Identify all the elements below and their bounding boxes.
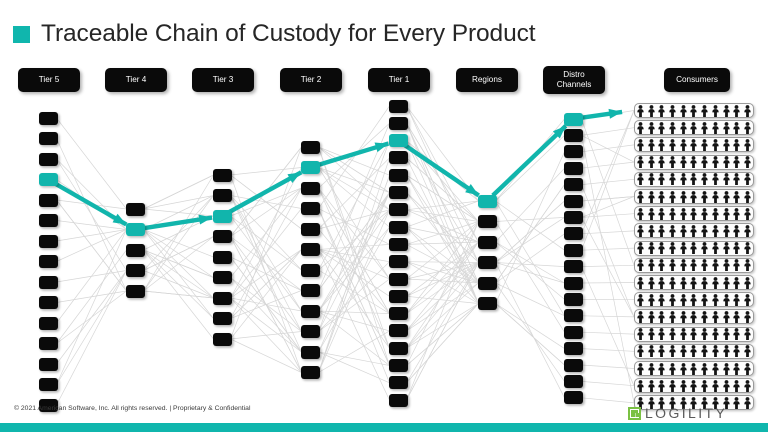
consumer-row-16[interactable] — [634, 378, 754, 393]
node-tier-3-0[interactable] — [213, 169, 232, 182]
node-tier-1-12[interactable] — [389, 307, 408, 320]
person-icon — [743, 397, 752, 409]
person-icon — [636, 242, 645, 254]
person-icon — [711, 105, 720, 117]
node-tier-2-11[interactable] — [301, 366, 320, 379]
person-icon — [711, 259, 720, 271]
person-icon — [657, 277, 666, 289]
node-tier-4-4[interactable] — [126, 285, 145, 298]
person-icon — [668, 173, 677, 185]
person-icon — [711, 242, 720, 254]
node-tier-3-4[interactable] — [213, 251, 232, 264]
consumer-row-7[interactable] — [634, 223, 754, 238]
person-icon — [689, 191, 698, 203]
person-icon — [679, 259, 688, 271]
person-icon — [636, 156, 645, 168]
person-icon — [743, 139, 752, 151]
node-regions-0[interactable] — [478, 195, 497, 208]
person-icon — [722, 191, 731, 203]
node-tier-5-7[interactable] — [39, 255, 58, 268]
node-tier-5-3[interactable] — [39, 173, 58, 186]
column-header-3: Tier 2 — [280, 68, 342, 92]
node-tier-4-2[interactable] — [126, 244, 145, 257]
person-icon — [668, 363, 677, 375]
person-icon — [636, 208, 645, 220]
person-icon — [700, 259, 709, 271]
node-tier-1-10[interactable] — [389, 273, 408, 286]
person-icon — [668, 345, 677, 357]
person-icon — [722, 122, 731, 134]
person-icon — [657, 311, 666, 323]
node-tier-4-0[interactable] — [126, 203, 145, 216]
person-icon — [700, 156, 709, 168]
node-tier-5-11[interactable] — [39, 337, 58, 350]
person-icon — [636, 173, 645, 185]
node-tier-1-14[interactable] — [389, 342, 408, 355]
person-icon — [689, 105, 698, 117]
consumer-row-14[interactable] — [634, 344, 754, 359]
person-icon — [647, 259, 656, 271]
person-icon — [647, 380, 656, 392]
node-tier-5-8[interactable] — [39, 276, 58, 289]
person-icon — [689, 173, 698, 185]
column-header-1: Tier 4 — [105, 68, 167, 92]
person-icon — [743, 259, 752, 271]
person-icon — [743, 311, 752, 323]
node-distro-channels-10[interactable] — [564, 277, 583, 290]
person-icon — [689, 277, 698, 289]
person-icon — [722, 242, 731, 254]
node-tier-2-6[interactable] — [301, 264, 320, 277]
person-icon — [647, 191, 656, 203]
node-distro-channels-1[interactable] — [564, 129, 583, 142]
node-tier-5-10[interactable] — [39, 317, 58, 330]
slide-canvas: Traceable Chain of Custody for Every Pro… — [0, 0, 768, 432]
person-icon — [732, 156, 741, 168]
node-distro-channels-14[interactable] — [564, 342, 583, 355]
person-icon — [668, 380, 677, 392]
person-icon — [722, 225, 731, 237]
person-icon — [743, 345, 752, 357]
person-icon — [711, 225, 720, 237]
person-icon — [679, 345, 688, 357]
person-icon — [689, 311, 698, 323]
person-icon — [657, 156, 666, 168]
person-icon — [732, 173, 741, 185]
footer-copyright: © 2021 American Software, Inc. All right… — [14, 405, 250, 412]
person-icon — [732, 397, 741, 409]
person-icon — [732, 242, 741, 254]
person-icon — [711, 328, 720, 340]
consumer-row-11[interactable] — [634, 292, 754, 307]
person-icon — [668, 277, 677, 289]
person-icon — [636, 225, 645, 237]
node-tier-1-9[interactable] — [389, 255, 408, 268]
node-regions-3[interactable] — [478, 256, 497, 269]
person-icon — [636, 345, 645, 357]
title-bullet-icon — [13, 26, 30, 43]
person-icon — [722, 380, 731, 392]
node-tier-5-5[interactable] — [39, 214, 58, 227]
person-icon — [689, 225, 698, 237]
person-icon — [668, 208, 677, 220]
consumer-row-8[interactable] — [634, 241, 754, 256]
person-icon — [668, 259, 677, 271]
person-icon — [743, 225, 752, 237]
person-icon — [689, 259, 698, 271]
node-tier-2-8[interactable] — [301, 305, 320, 318]
person-icon — [636, 191, 645, 203]
person-icon — [743, 294, 752, 306]
person-icon — [657, 208, 666, 220]
node-tier-2-4[interactable] — [301, 223, 320, 236]
node-distro-channels-13[interactable] — [564, 326, 583, 339]
node-distro-channels-16[interactable] — [564, 375, 583, 388]
node-tier-3-1[interactable] — [213, 189, 232, 202]
page-title: Traceable Chain of Custody for Every Pro… — [13, 22, 535, 47]
person-icon — [711, 191, 720, 203]
node-distro-channels-4[interactable] — [564, 178, 583, 191]
person-icon — [722, 156, 731, 168]
person-icon — [711, 345, 720, 357]
node-tier-3-5[interactable] — [213, 271, 232, 284]
consumer-row-10[interactable] — [634, 275, 754, 290]
person-icon — [732, 259, 741, 271]
node-tier-2-7[interactable] — [301, 284, 320, 297]
person-icon — [711, 277, 720, 289]
person-icon — [732, 208, 741, 220]
person-icon — [668, 225, 677, 237]
consumer-row-6[interactable] — [634, 206, 754, 221]
node-distro-channels-0[interactable] — [564, 113, 583, 126]
node-tier-3-7[interactable] — [213, 312, 232, 325]
person-icon — [668, 105, 677, 117]
person-icon — [722, 105, 731, 117]
person-icon — [657, 363, 666, 375]
node-tier-2-1[interactable] — [301, 161, 320, 174]
node-tier-1-16[interactable] — [389, 376, 408, 389]
person-icon — [732, 105, 741, 117]
person-icon — [711, 294, 720, 306]
person-icon — [636, 259, 645, 271]
person-icon — [668, 191, 677, 203]
person-icon — [743, 208, 752, 220]
consumer-row-9[interactable] — [634, 258, 754, 273]
node-distro-channels-12[interactable] — [564, 309, 583, 322]
person-icon — [700, 294, 709, 306]
node-distro-channels-3[interactable] — [564, 162, 583, 175]
person-icon — [657, 139, 666, 151]
person-icon — [700, 242, 709, 254]
node-regions-2[interactable] — [478, 236, 497, 249]
person-icon — [700, 277, 709, 289]
node-tier-4-3[interactable] — [126, 264, 145, 277]
person-icon — [722, 173, 731, 185]
node-tier-2-9[interactable] — [301, 325, 320, 338]
person-icon — [657, 242, 666, 254]
person-icon — [743, 122, 752, 134]
node-tier-1-2[interactable] — [389, 134, 408, 147]
person-icon — [700, 345, 709, 357]
person-icon — [657, 259, 666, 271]
person-icon — [679, 328, 688, 340]
person-icon — [732, 139, 741, 151]
node-distro-channels-9[interactable] — [564, 260, 583, 273]
person-icon — [700, 328, 709, 340]
person-icon — [732, 294, 741, 306]
node-tier-5-6[interactable] — [39, 235, 58, 248]
node-tier-5-2[interactable] — [39, 153, 58, 166]
node-tier-5-4[interactable] — [39, 194, 58, 207]
person-icon — [657, 294, 666, 306]
person-icon — [657, 122, 666, 134]
person-icon — [732, 311, 741, 323]
person-icon — [647, 156, 656, 168]
person-icon — [711, 380, 720, 392]
person-icon — [689, 294, 698, 306]
node-tier-1-5[interactable] — [389, 186, 408, 199]
node-regions-4[interactable] — [478, 277, 497, 290]
node-tier-5-13[interactable] — [39, 378, 58, 391]
consumer-row-12[interactable] — [634, 309, 754, 324]
node-tier-2-3[interactable] — [301, 202, 320, 215]
person-icon — [668, 294, 677, 306]
person-icon — [711, 139, 720, 151]
bottom-accent-bar — [0, 423, 768, 432]
person-icon — [700, 380, 709, 392]
node-tier-3-3[interactable] — [213, 230, 232, 243]
person-icon — [700, 208, 709, 220]
node-tier-2-0[interactable] — [301, 141, 320, 154]
person-icon — [636, 363, 645, 375]
person-icon — [647, 208, 656, 220]
node-distro-channels-5[interactable] — [564, 195, 583, 208]
node-tier-3-2[interactable] — [213, 210, 232, 223]
node-regions-1[interactable] — [478, 215, 497, 228]
consumer-row-0[interactable] — [634, 103, 754, 118]
column-header-0: Tier 5 — [18, 68, 80, 92]
node-distro-channels-7[interactable] — [564, 227, 583, 240]
person-icon — [689, 242, 698, 254]
person-icon — [679, 242, 688, 254]
person-icon — [732, 191, 741, 203]
consumer-row-13[interactable] — [634, 327, 754, 342]
person-icon — [743, 328, 752, 340]
column-header-5: Regions — [456, 68, 518, 92]
person-icon — [679, 277, 688, 289]
consumer-row-5[interactable] — [634, 189, 754, 204]
person-icon — [711, 363, 720, 375]
node-tier-2-10[interactable] — [301, 346, 320, 359]
person-icon — [722, 311, 731, 323]
person-icon — [668, 242, 677, 254]
person-icon — [647, 225, 656, 237]
column-header-6: Distro Channels — [543, 66, 605, 94]
person-icon — [668, 311, 677, 323]
node-distro-channels-6[interactable] — [564, 211, 583, 224]
node-distro-channels-17[interactable] — [564, 391, 583, 404]
person-icon — [722, 277, 731, 289]
person-icon — [636, 105, 645, 117]
consumer-row-2[interactable] — [634, 137, 754, 152]
person-icon — [711, 311, 720, 323]
person-icon — [668, 122, 677, 134]
person-icon — [679, 380, 688, 392]
column-header-7: Consumers — [664, 68, 730, 92]
title-label: Traceable Chain of Custody for Every Pro… — [41, 22, 535, 47]
person-icon — [722, 294, 731, 306]
person-icon — [743, 191, 752, 203]
node-tier-1-0[interactable] — [389, 100, 408, 113]
person-icon — [700, 139, 709, 151]
person-icon — [636, 122, 645, 134]
logility-logo: LOGILITY — [628, 406, 727, 420]
person-icon — [700, 191, 709, 203]
person-icon — [743, 363, 752, 375]
person-icon — [732, 380, 741, 392]
person-icon — [668, 156, 677, 168]
person-icon — [679, 156, 688, 168]
node-tier-1-11[interactable] — [389, 290, 408, 303]
person-icon — [647, 345, 656, 357]
consumer-row-3[interactable] — [634, 155, 754, 170]
logility-logo-text: LOGILITY — [645, 406, 727, 420]
person-icon — [700, 225, 709, 237]
person-icon — [743, 380, 752, 392]
person-icon — [732, 345, 741, 357]
node-tier-5-12[interactable] — [39, 358, 58, 371]
person-icon — [657, 345, 666, 357]
person-icon — [647, 328, 656, 340]
person-icon — [689, 380, 698, 392]
node-tier-3-6[interactable] — [213, 292, 232, 305]
node-tier-1-6[interactable] — [389, 203, 408, 216]
person-icon — [647, 122, 656, 134]
column-header-2: Tier 3 — [192, 68, 254, 92]
person-icon — [689, 156, 698, 168]
node-tier-2-5[interactable] — [301, 243, 320, 256]
person-icon — [722, 208, 731, 220]
person-icon — [679, 191, 688, 203]
node-tier-3-8[interactable] — [213, 333, 232, 346]
person-icon — [657, 380, 666, 392]
person-icon — [647, 105, 656, 117]
person-icon — [647, 363, 656, 375]
node-tier-1-8[interactable] — [389, 238, 408, 251]
person-icon — [636, 311, 645, 323]
person-icon — [647, 139, 656, 151]
person-icon — [647, 242, 656, 254]
person-icon — [636, 294, 645, 306]
node-distro-channels-11[interactable] — [564, 293, 583, 306]
node-tier-5-0[interactable] — [39, 112, 58, 125]
node-tier-2-2[interactable] — [301, 182, 320, 195]
person-icon — [647, 294, 656, 306]
person-icon — [657, 225, 666, 237]
node-tier-5-1[interactable] — [39, 132, 58, 145]
person-icon — [722, 259, 731, 271]
person-icon — [647, 311, 656, 323]
person-icon — [636, 277, 645, 289]
person-icon — [743, 277, 752, 289]
person-icon — [689, 122, 698, 134]
person-icon — [636, 380, 645, 392]
column-header-4: Tier 1 — [368, 68, 430, 92]
person-icon — [732, 363, 741, 375]
person-icon — [689, 208, 698, 220]
node-tier-1-1[interactable] — [389, 117, 408, 130]
person-icon — [647, 277, 656, 289]
person-icon — [700, 122, 709, 134]
person-icon — [657, 173, 666, 185]
node-distro-channels-8[interactable] — [564, 244, 583, 257]
person-icon — [732, 122, 741, 134]
person-icon — [743, 173, 752, 185]
person-icon — [743, 105, 752, 117]
person-icon — [689, 345, 698, 357]
node-tier-1-15[interactable] — [389, 359, 408, 372]
consumer-row-4[interactable] — [634, 172, 754, 187]
person-icon — [689, 363, 698, 375]
person-icon — [743, 156, 752, 168]
person-icon — [679, 294, 688, 306]
node-distro-channels-2[interactable] — [564, 145, 583, 158]
node-distro-channels-15[interactable] — [564, 359, 583, 372]
person-icon — [700, 363, 709, 375]
person-icon — [679, 208, 688, 220]
person-icon — [711, 173, 720, 185]
node-tier-1-7[interactable] — [389, 221, 408, 234]
node-regions-5[interactable] — [478, 297, 497, 310]
person-icon — [700, 173, 709, 185]
person-icon — [732, 328, 741, 340]
person-icon — [668, 328, 677, 340]
person-icon — [689, 328, 698, 340]
person-icon — [679, 225, 688, 237]
node-tier-1-17[interactable] — [389, 394, 408, 407]
node-tier-1-13[interactable] — [389, 324, 408, 337]
consumer-row-1[interactable] — [634, 120, 754, 135]
person-icon — [647, 173, 656, 185]
person-icon — [700, 311, 709, 323]
node-tier-4-1[interactable] — [126, 223, 145, 236]
node-tier-5-9[interactable] — [39, 296, 58, 309]
person-icon — [679, 122, 688, 134]
person-icon — [732, 225, 741, 237]
node-tier-1-3[interactable] — [389, 151, 408, 164]
person-icon — [636, 328, 645, 340]
person-icon — [722, 328, 731, 340]
person-icon — [657, 191, 666, 203]
person-icon — [711, 208, 720, 220]
person-icon — [668, 139, 677, 151]
consumer-row-15[interactable] — [634, 361, 754, 376]
person-icon — [722, 139, 731, 151]
node-tier-1-4[interactable] — [389, 169, 408, 182]
logility-logo-mark-icon — [628, 407, 641, 420]
person-icon — [732, 277, 741, 289]
person-icon — [711, 122, 720, 134]
person-icon — [679, 173, 688, 185]
person-icon — [636, 139, 645, 151]
person-icon — [679, 311, 688, 323]
person-icon — [743, 242, 752, 254]
person-icon — [711, 156, 720, 168]
person-icon — [679, 363, 688, 375]
person-icon — [722, 363, 731, 375]
person-icon — [679, 105, 688, 117]
person-icon — [700, 105, 709, 117]
